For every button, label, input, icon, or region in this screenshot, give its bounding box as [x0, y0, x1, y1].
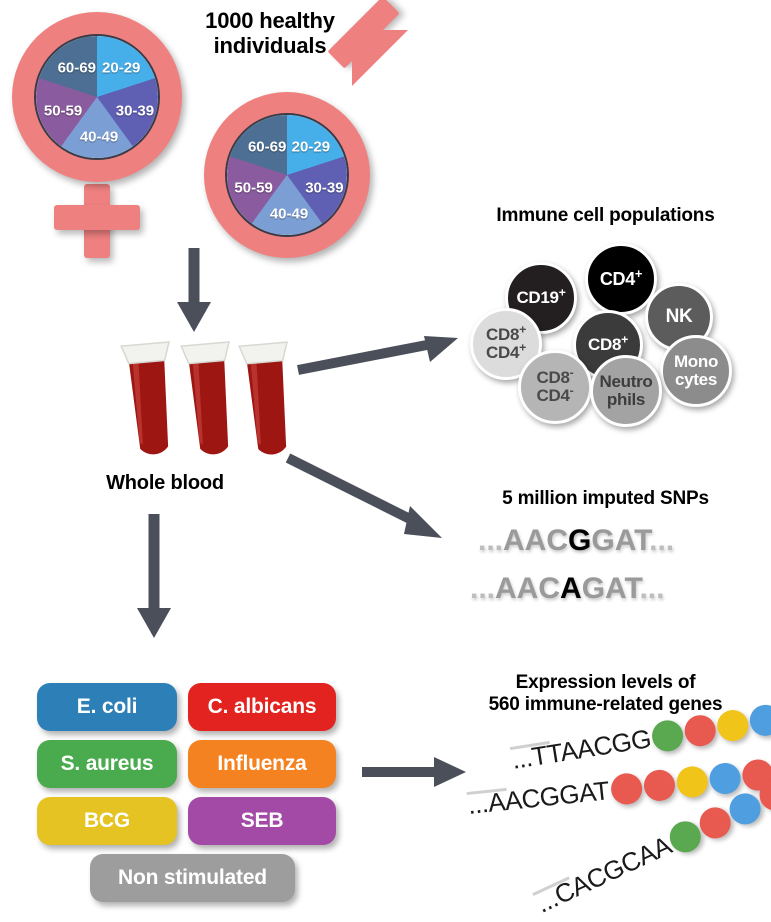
strand-sequence: ...CACGCAA	[531, 830, 676, 919]
expression-dot-blue	[748, 703, 771, 738]
expression-dot-blue	[708, 761, 742, 795]
strand-sequence: ...TTAACGG	[510, 723, 654, 776]
expression-dot-yellow	[675, 765, 709, 799]
strand-sequence: ...AACGGAT	[466, 775, 610, 821]
expression-strands: ...TTAACGG...AACGGAT...CACGCAA	[0, 0, 771, 922]
expression-dot-red	[642, 768, 676, 802]
expression-dot-red	[683, 713, 718, 748]
expression-dot-red	[609, 772, 643, 806]
expression-dot-yellow	[715, 708, 750, 743]
study-design-figure: 1000 healthy individuals 20-2930-3940-49…	[0, 0, 771, 922]
expression-dot-green	[650, 718, 685, 753]
